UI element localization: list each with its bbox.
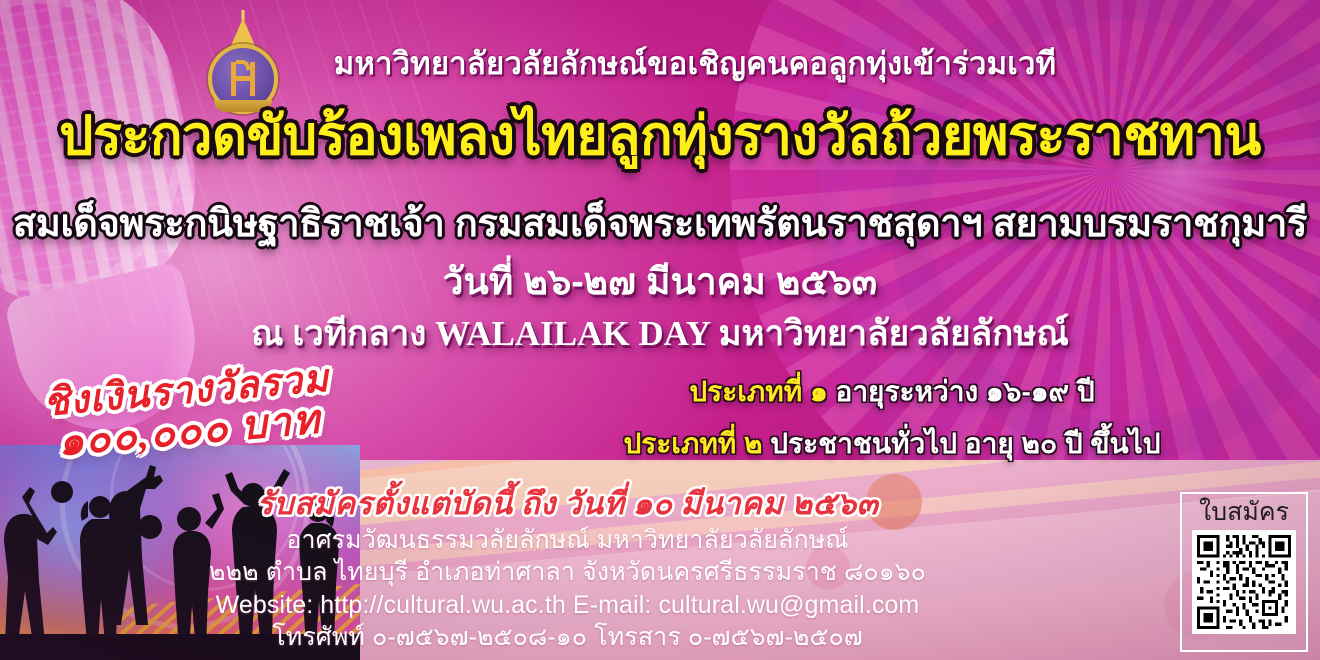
contact-phone-fax: โทรศัพท์ ๐-๗๕๖๗-๒๕๐๘-๑๐ โทรสาร ๐-๗๕๖๗-๒๕… xyxy=(0,621,1135,653)
contact-info: อาศรมวัฒนธรรมวลัยลักษณ์ มหาวิทยาลัยวลัยล… xyxy=(0,524,1135,653)
qr-label: ใบสมัคร xyxy=(1199,499,1289,527)
contact-organization: อาศรมวัฒนธรรมวลัยลักษณ์ มหาวิทยาลัยวลัยล… xyxy=(0,524,1135,556)
promotional-banner: มหาวิทยาลัยวลัยลักษณ์ขอเชิญคนคอลูกทุ่งเข… xyxy=(0,0,1320,660)
category-1-detail: อายุระหว่าง ๑๖-๑๙ ปี xyxy=(836,376,1095,407)
application-form-qr-panel[interactable]: ใบสมัคร xyxy=(1180,492,1308,652)
page-title: ประกวดขับร้องเพลงไทยลูกทุ่งรางวัลถ้วยพระ… xyxy=(0,108,1320,165)
banner-content: มหาวิทยาลัยวลัยลักษณ์ขอเชิญคนคอลูกทุ่งเข… xyxy=(0,0,1320,660)
royal-patron-subtitle: สมเด็จพระกนิษฐาธิราชเจ้า กรมสมเด็จพระเทพ… xyxy=(0,192,1320,253)
category-1-label: ประเภทที่ ๑ xyxy=(689,376,827,407)
event-date: วันที่ ๒๖-๒๗ มีนาคม ๒๕๖๓ xyxy=(0,252,1320,311)
category-list: ประเภทที่ ๑ อายุระหว่าง ๑๖-๑๙ ปี ประเภทท… xyxy=(582,370,1202,474)
organizer-header: มหาวิทยาลัยวลัยลักษณ์ขอเชิญคนคอลูกทุ่งเข… xyxy=(0,38,1320,88)
category-2-detail: ประชาชนทั่วไป อายุ ๒๐ ปี ขึ้นไป xyxy=(770,428,1160,459)
event-venue: ณ เวทีกลาง WALAILAK DAY มหาวิทยาลัยวลัยล… xyxy=(0,306,1320,361)
contact-web-email: Website: http://cultural.wu.ac.th E-mail… xyxy=(0,589,1135,621)
prize-amount: ชิงเงินรางวัลรวม ๑๐๐,๐๐๐ บาท xyxy=(15,357,361,466)
registration-deadline: รับสมัครตั้งแต่บัดนี้ ถึง วันที่ ๑๐ มีนา… xyxy=(0,478,1135,528)
category-2-label: ประเภทที่ ๒ xyxy=(623,428,762,459)
contact-address: ๒๒๒ ตำบล ไทยบุรี อำเภอท่าศาลา จังหวัดนคร… xyxy=(0,556,1135,588)
qr-code-matrix xyxy=(1197,535,1291,629)
list-item: ประเภทที่ ๒ ประชาชนทั่วไป อายุ ๒๐ ปี ขึ้… xyxy=(582,422,1202,466)
qr-code-icon[interactable] xyxy=(1192,530,1296,634)
list-item: ประเภทที่ ๑ อายุระหว่าง ๑๖-๑๙ ปี xyxy=(582,370,1202,414)
